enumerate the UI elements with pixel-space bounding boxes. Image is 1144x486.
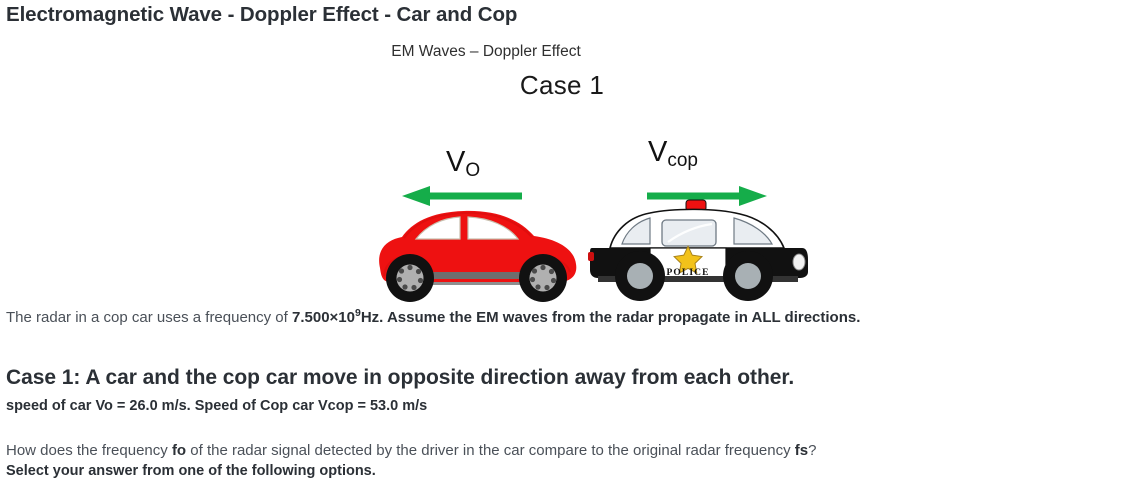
figure-case-label: Case 1 [0, 70, 1124, 101]
radar-frequency-statement: The radar in a cop car uses a frequency … [6, 308, 860, 328]
radar-line-plain-1: The radar in a cop car uses a frequency … [6, 309, 292, 326]
cop-velocity-symbol: V [648, 136, 667, 168]
figure-caption: EM Waves – Doppler Effect [0, 43, 972, 61]
cop-velocity-subscript: cop [667, 150, 698, 171]
question-bold-fo: fo [172, 442, 186, 459]
car-velocity-arrow-left-icon [402, 184, 524, 208]
question-plain-1: How does the frequency [6, 442, 172, 459]
question-bold-fs: fs [795, 442, 808, 459]
select-answer-instruction: Select your answer from one of the follo… [6, 463, 376, 479]
page-title: Electromagnetic Wave - Doppler Effect - … [6, 3, 517, 27]
question-plain-2: of the radar signal detected by the driv… [186, 442, 795, 459]
car-velocity-symbol: V [446, 146, 465, 178]
cop-velocity-label: Vcop [648, 138, 698, 167]
doppler-effect-figure: EM Waves – Doppler Effect Case 1 VO Vcop [0, 38, 1144, 288]
case-1-heading: Case 1: A car and the cop car move in op… [6, 366, 794, 390]
question-plain-3: ? [808, 442, 816, 459]
question-line: How does the frequency fo of the radar s… [6, 441, 816, 461]
radar-line-bold-2: Hz. Assume the EM waves from the radar p… [361, 309, 861, 326]
radar-line-bold-1: 7.500×10 [292, 309, 355, 326]
speeds-line: speed of car Vo = 26.0 m/s. Speed of Cop… [6, 398, 427, 414]
red-car-illustration [368, 206, 590, 302]
car-velocity-subscript: O [465, 160, 480, 181]
car-velocity-label: VO [446, 148, 480, 177]
police-car-illustration: POLICE [588, 196, 810, 304]
